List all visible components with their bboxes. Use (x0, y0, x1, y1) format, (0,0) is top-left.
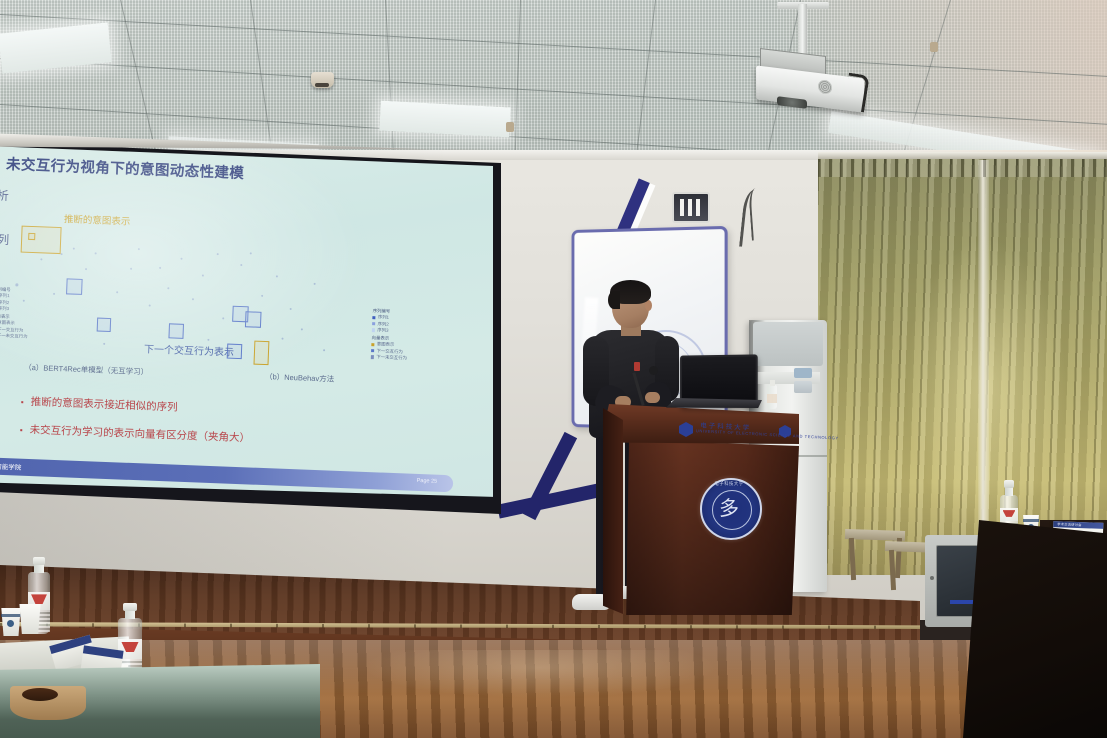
podium-side-panel (603, 408, 623, 614)
emblem-character: 多 (700, 492, 758, 521)
wall-cable-bundle (748, 187, 770, 240)
speaker-lapel-badge (634, 362, 640, 371)
panel-bar-icon (680, 199, 684, 216)
cabinet-display-icon (794, 368, 812, 378)
sprinkler-head-icon (506, 122, 514, 132)
emblem-top-text: 电子科技大学 (700, 481, 758, 487)
curtain-gap (978, 160, 989, 575)
curtain-sunlight (818, 155, 1107, 575)
speaker-hair (608, 291, 620, 309)
bottle-cap (123, 603, 136, 611)
curtain-pleat-header (818, 157, 1107, 177)
podium-water-bottle (767, 385, 777, 409)
cabinet-grille (753, 322, 823, 366)
smoke-detector-icon (311, 72, 334, 88)
panel-bar-icon (688, 199, 692, 216)
rack-lock-icon[interactable] (930, 576, 934, 580)
cup-band (1, 614, 21, 617)
wall-speaker-panel (672, 192, 710, 223)
bottle-cap (33, 557, 45, 565)
paper-cup (18, 604, 42, 634)
bowl-contents (22, 688, 58, 701)
projector-mount-pole (798, 4, 807, 58)
bottle-cap (1004, 480, 1014, 488)
cabinet-button-panel[interactable] (794, 381, 812, 393)
foreground-table-right (963, 520, 1107, 738)
cup-logo-icon (7, 620, 14, 627)
panel-bar-icon (696, 199, 700, 216)
curtain-rail (818, 152, 1107, 159)
microphone-icon[interactable] (649, 366, 658, 375)
cup-band (1023, 519, 1039, 522)
lecture-hall-photo: 未交互行为视角下的意图动态性建模 析 序列 推断的意图表示 (0, 0, 1107, 738)
screen-glare (0, 146, 493, 504)
floor-reflection (330, 650, 750, 738)
sprinkler-head-icon (930, 42, 938, 52)
speaker-hand (645, 392, 660, 403)
